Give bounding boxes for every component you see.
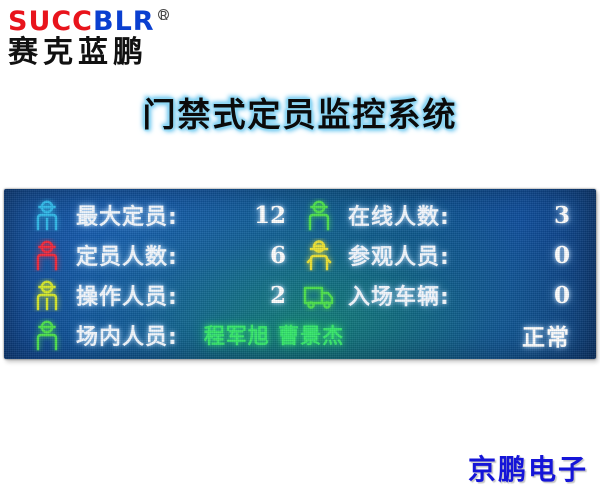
label-operators: 操作人员: xyxy=(76,279,178,311)
label-max-capacity: 最大定员: xyxy=(76,199,178,231)
brand-chinese-name: 赛克蓝鹏 xyxy=(8,37,208,69)
label-online-people: 在线人数: xyxy=(348,199,450,231)
value-entered-vehicles: 0 xyxy=(554,282,570,309)
page-title: 门禁式定员监控系统 xyxy=(0,88,600,136)
truck-icon xyxy=(302,278,336,312)
person-helmet-icon xyxy=(30,318,64,352)
person-helmet-icon xyxy=(30,278,64,312)
brand-wordmark: SUCCBLRR xyxy=(8,8,208,35)
value-quota-people: 6 xyxy=(270,242,286,269)
row-onsite-people: 场内人员: 程军旭 曹景杰 正常 xyxy=(30,315,574,355)
row-entered-vehicles: 入场车辆: 0 xyxy=(302,275,574,315)
brand-wordmark-red: SUCC xyxy=(8,6,93,37)
row-max-capacity: 最大定员: 12 xyxy=(30,195,288,235)
brand-logo: SUCCBLRR 赛克蓝鹏 xyxy=(8,8,208,69)
value-max-capacity: 12 xyxy=(254,202,286,229)
label-quota-people: 定员人数: xyxy=(76,239,178,271)
label-visitors: 参观人员: xyxy=(348,239,450,271)
value-online-people: 3 xyxy=(554,202,570,229)
row-operators: 操作人员: 2 xyxy=(30,275,288,315)
label-entered-vehicles: 入场车辆: xyxy=(348,279,450,311)
led-left-column: 最大定员: 12 定员人数: 6 xyxy=(30,195,288,315)
value-visitors: 0 xyxy=(554,242,570,269)
row-visitors: 参观人员: 0 xyxy=(302,235,574,275)
row-quota-people: 定员人数: 6 xyxy=(30,235,288,275)
value-operators: 2 xyxy=(270,282,286,309)
led-right-column: 在线人数: 3 参观人员: 0 xyxy=(302,195,574,315)
registered-trademark-icon: R xyxy=(158,9,169,20)
brand-wordmark-blue: BLR xyxy=(93,6,155,37)
led-content-area: 最大定员: 12 定员人数: 6 xyxy=(18,195,582,351)
label-onsite-people: 场内人员: xyxy=(76,319,178,351)
person-helmet-icon xyxy=(302,198,336,232)
row-online-people: 在线人数: 3 xyxy=(302,195,574,235)
person-helmet-icon xyxy=(30,238,64,272)
led-display-panel: 最大定员: 12 定员人数: 6 xyxy=(4,189,596,359)
footer-brand: 京鹏电子 xyxy=(468,448,588,488)
status-badge: 正常 xyxy=(522,318,570,352)
onsite-people-names: 程军旭 曹景杰 xyxy=(204,320,344,350)
person-helmet-icon xyxy=(30,198,64,232)
person-hat-icon xyxy=(302,238,336,272)
